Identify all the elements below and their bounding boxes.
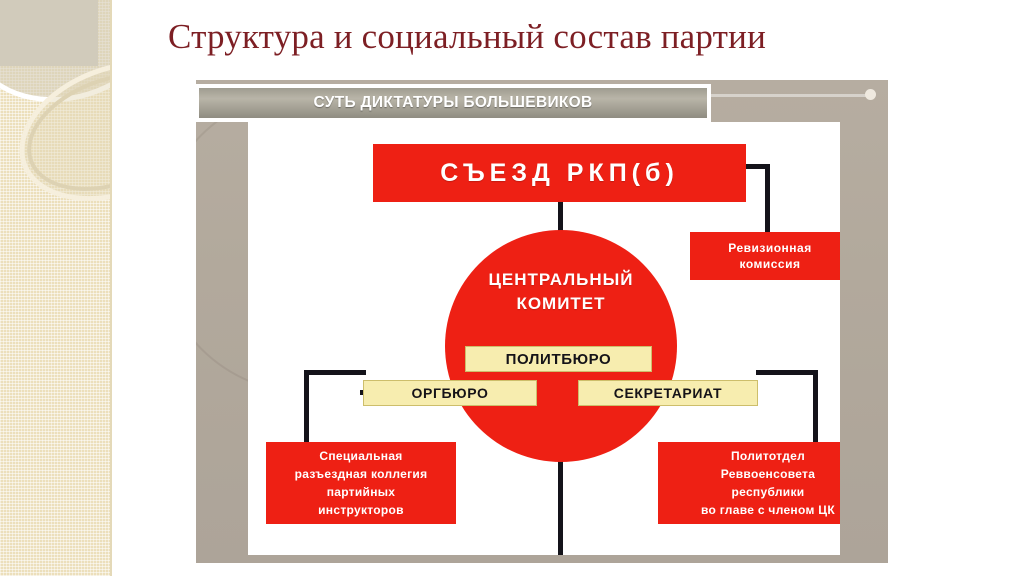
node-special-collegium[interactable]: Специальная разъездная коллегия партийны… <box>266 442 456 524</box>
connector-congress-to-revision-v <box>765 164 770 234</box>
line-3: республики <box>732 485 805 499</box>
node-secretariat[interactable]: СЕКРЕТАРИАТ <box>578 380 758 406</box>
node-orgburo[interactable]: ОРГБЮРО <box>363 380 537 406</box>
node-secretariat-label: СЕКРЕТАРИАТ <box>614 385 722 401</box>
connector-secretariat-v <box>813 370 818 446</box>
node-revision-commission-label: Ревизионная комиссия <box>728 240 811 272</box>
connector-orgburo-v <box>304 370 309 446</box>
connector-orgburo-h <box>304 370 366 375</box>
connector-congress-to-cc <box>558 202 563 232</box>
section-banner-inner: СУТЬ ДИКТАТУРЫ БОЛЬШЕВИКОВ <box>199 88 707 118</box>
node-central-committee-label: ЦЕНТРАЛЬНЫЙ КОМИТЕТ <box>488 268 633 316</box>
line-1: Ревизионная <box>728 241 811 255</box>
decorative-side-band <box>0 0 112 576</box>
line-2: КОМИТЕТ <box>516 294 605 313</box>
connector-cc-to-bottom <box>558 460 563 555</box>
node-politotdel-label: Политотдел Реввоенсовета республики во г… <box>701 447 835 519</box>
decorative-dot-icon <box>865 89 876 100</box>
line-1: ЦЕНТРАЛЬНЫЙ <box>488 270 633 289</box>
section-banner: СУТЬ ДИКТАТУРЫ БОЛЬШЕВИКОВ <box>195 84 711 122</box>
node-revision-commission[interactable]: Ревизионная комиссия <box>690 232 840 280</box>
page-title: Структура и социальный состав партии <box>168 16 958 58</box>
decorative-band-edge <box>110 0 112 576</box>
section-banner-label: СУТЬ ДИКТАТУРЫ БОЛЬШЕВИКОВ <box>313 94 592 112</box>
node-politburo-label: ПОЛИТБЮРО <box>506 351 612 368</box>
node-politotdel[interactable]: Политотдел Реввоенсовета республики во г… <box>658 442 840 524</box>
node-orgburo-label: ОРГБЮРО <box>412 385 489 401</box>
line-4: во главе с членом ЦК <box>701 503 835 517</box>
line-2: комиссия <box>739 257 800 271</box>
line-1: Специальная <box>319 449 402 463</box>
line-4: инструкторов <box>318 503 404 517</box>
node-special-collegium-label: Специальная разъездная коллегия партийны… <box>295 447 428 519</box>
line-3: партийных <box>327 485 396 499</box>
node-congress[interactable]: СЪЕЗД РКП(б) <box>373 144 746 202</box>
node-congress-label: СЪЕЗД РКП(б) <box>440 159 679 188</box>
line-2: разъездная коллегия <box>295 467 428 481</box>
line-1: Политотдел <box>731 449 805 463</box>
node-politburo[interactable]: ПОЛИТБЮРО <box>465 346 652 372</box>
line-2: Реввоенсовета <box>721 467 815 481</box>
org-chart-panel: СЪЕЗД РКП(б) Ревизионная комиссия ЦЕНТРА… <box>248 122 840 555</box>
connector-secretariat-h <box>756 370 818 375</box>
